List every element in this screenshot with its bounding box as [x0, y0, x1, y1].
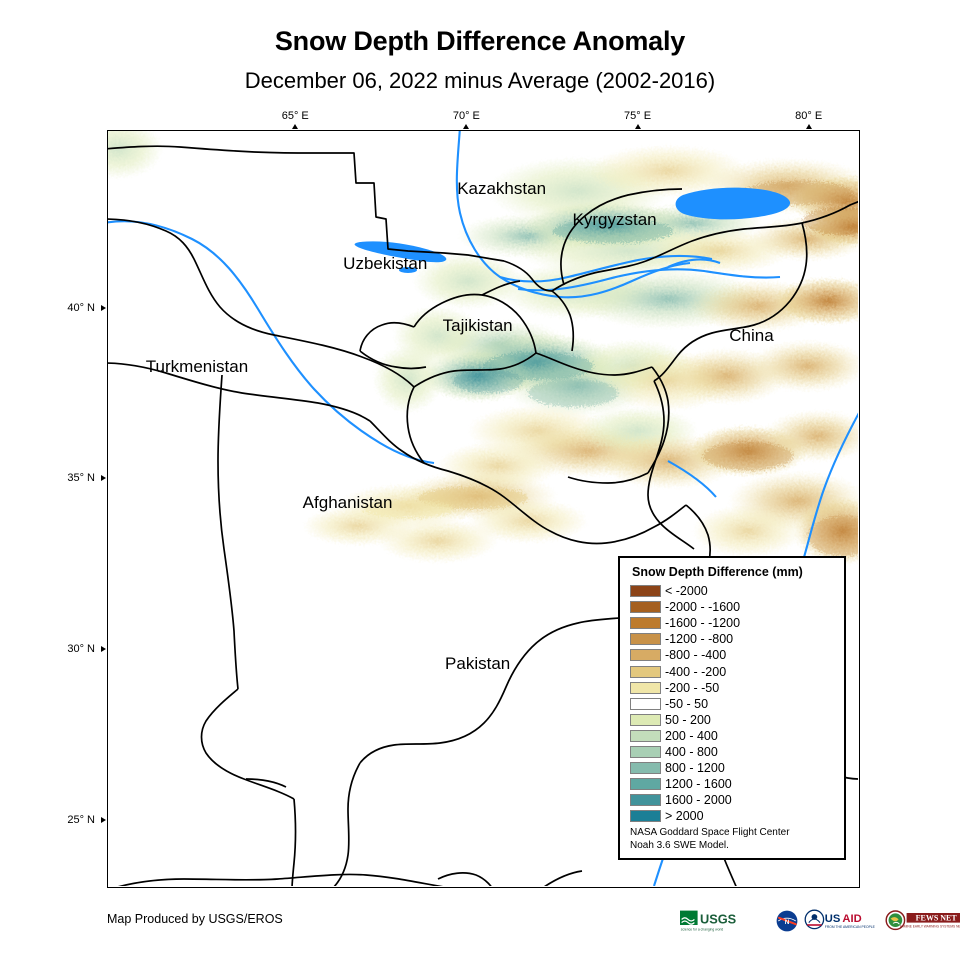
legend-swatch — [630, 617, 661, 629]
legend-row[interactable]: -1200 - -800 — [630, 631, 836, 647]
legend-row[interactable]: 200 - 400 — [630, 728, 836, 744]
fewsnet-logo[interactable]: FEWS NET FAMINE EARLY WARNING SYSTEMS NE… — [885, 909, 960, 933]
legend-swatch — [630, 666, 661, 678]
legend-row[interactable]: 400 - 800 — [630, 744, 836, 760]
usgs-logo[interactable]: USGS science for a changing world — [680, 909, 770, 933]
lon-axis-label: 80° E — [795, 110, 822, 122]
lat-axis-tick — [101, 475, 106, 481]
legend-row[interactable]: > 2000 — [630, 808, 836, 824]
agency-logo-strip: USGS science for a changing world N US A… — [680, 908, 960, 934]
legend-label: -200 - -50 — [665, 681, 719, 695]
lat-axis-label: 40° N — [49, 302, 95, 314]
legend-row[interactable]: 50 - 200 — [630, 712, 836, 728]
page-title: Snow Depth Difference Anomaly — [0, 26, 960, 57]
legend-credit-line2: Noah 3.6 SWE Model. — [630, 840, 836, 853]
legend-row[interactable]: 800 - 1200 — [630, 760, 836, 776]
legend-swatch — [630, 746, 661, 758]
svg-text:AID: AID — [842, 913, 861, 925]
legend-label: 50 - 200 — [665, 713, 711, 727]
legend-label: 800 - 1200 — [665, 761, 725, 775]
producer-credit: Map Produced by USGS/EROS — [107, 912, 283, 926]
lat-axis-label: 25° N — [49, 814, 95, 826]
legend-swatch — [630, 585, 661, 597]
svg-text:US: US — [824, 913, 840, 925]
svg-text:FAMINE EARLY WARNING SYSTEMS N: FAMINE EARLY WARNING SYSTEMS NETWORK — [900, 924, 960, 928]
legend-label: 1600 - 2000 — [665, 793, 732, 807]
lat-axis-tick — [101, 305, 106, 311]
legend-label: -1200 - -800 — [665, 632, 733, 646]
legend-swatch — [630, 601, 661, 613]
svg-text:FROM THE AMERICAN PEOPLE: FROM THE AMERICAN PEOPLE — [824, 925, 875, 929]
svg-text:FEWS NET: FEWS NET — [916, 914, 958, 923]
svg-text:USGS: USGS — [700, 911, 737, 926]
legend-label: -800 - -400 — [665, 648, 726, 662]
legend-swatch — [630, 794, 661, 806]
lon-axis-label: 75° E — [624, 110, 651, 122]
usaid-logo[interactable]: US AID FROM THE AMERICAN PEOPLE — [804, 909, 881, 933]
lon-axis-label: 70° E — [453, 110, 480, 122]
page-subtitle: December 06, 2022 minus Average (2002-20… — [0, 68, 960, 94]
legend-swatch — [630, 633, 661, 645]
legend-swatch — [630, 762, 661, 774]
legend-row[interactable]: -400 - -200 — [630, 663, 836, 679]
legend-credit: NASA Goddard Space Flight Center Noah 3.… — [630, 827, 836, 852]
svg-text:science for a changing world: science for a changing world — [681, 928, 724, 932]
lat-axis-label: 35° N — [49, 472, 95, 484]
lon-axis-tick — [806, 124, 812, 129]
lon-axis-tick — [463, 124, 469, 129]
map-legend[interactable]: Snow Depth Difference (mm) < -2000-2000 … — [618, 556, 846, 860]
legend-row[interactable]: -2000 - -1600 — [630, 599, 836, 615]
legend-swatch — [630, 682, 661, 694]
nasa-logo[interactable]: N — [775, 909, 799, 933]
lon-axis-tick — [635, 124, 641, 129]
lat-axis-label: 30° N — [49, 643, 95, 655]
legend-row[interactable]: -50 - 50 — [630, 696, 836, 712]
legend-label: -400 - -200 — [665, 665, 726, 679]
legend-row[interactable]: 1200 - 1600 — [630, 776, 836, 792]
legend-label: -1600 - -1200 — [665, 616, 740, 630]
legend-swatch — [630, 649, 661, 661]
legend-label: -2000 - -1600 — [665, 600, 740, 614]
legend-credit-line1: NASA Goddard Space Flight Center — [630, 827, 836, 840]
lon-axis-label: 65° E — [282, 110, 309, 122]
legend-label: 1200 - 1600 — [665, 777, 732, 791]
legend-row[interactable]: -800 - -400 — [630, 647, 836, 663]
legend-class-list: < -2000-2000 - -1600-1600 - -1200-1200 -… — [630, 583, 836, 824]
legend-label: 200 - 400 — [665, 729, 718, 743]
legend-swatch — [630, 714, 661, 726]
legend-row[interactable]: < -2000 — [630, 583, 836, 599]
legend-label: 400 - 800 — [665, 745, 718, 759]
legend-row[interactable]: 1600 - 2000 — [630, 792, 836, 808]
legend-swatch — [630, 698, 661, 710]
lon-axis-tick — [292, 124, 298, 129]
legend-swatch — [630, 810, 661, 822]
legend-label: -50 - 50 — [665, 697, 708, 711]
lat-axis-tick — [101, 817, 106, 823]
svg-text:N: N — [784, 919, 789, 926]
legend-label: < -2000 — [665, 584, 708, 598]
lat-axis-tick — [101, 646, 106, 652]
legend-title: Snow Depth Difference (mm) — [632, 565, 836, 579]
legend-label: > 2000 — [665, 809, 704, 823]
legend-row[interactable]: -1600 - -1200 — [630, 615, 836, 631]
legend-swatch — [630, 778, 661, 790]
legend-swatch — [630, 730, 661, 742]
legend-row[interactable]: -200 - -50 — [630, 680, 836, 696]
